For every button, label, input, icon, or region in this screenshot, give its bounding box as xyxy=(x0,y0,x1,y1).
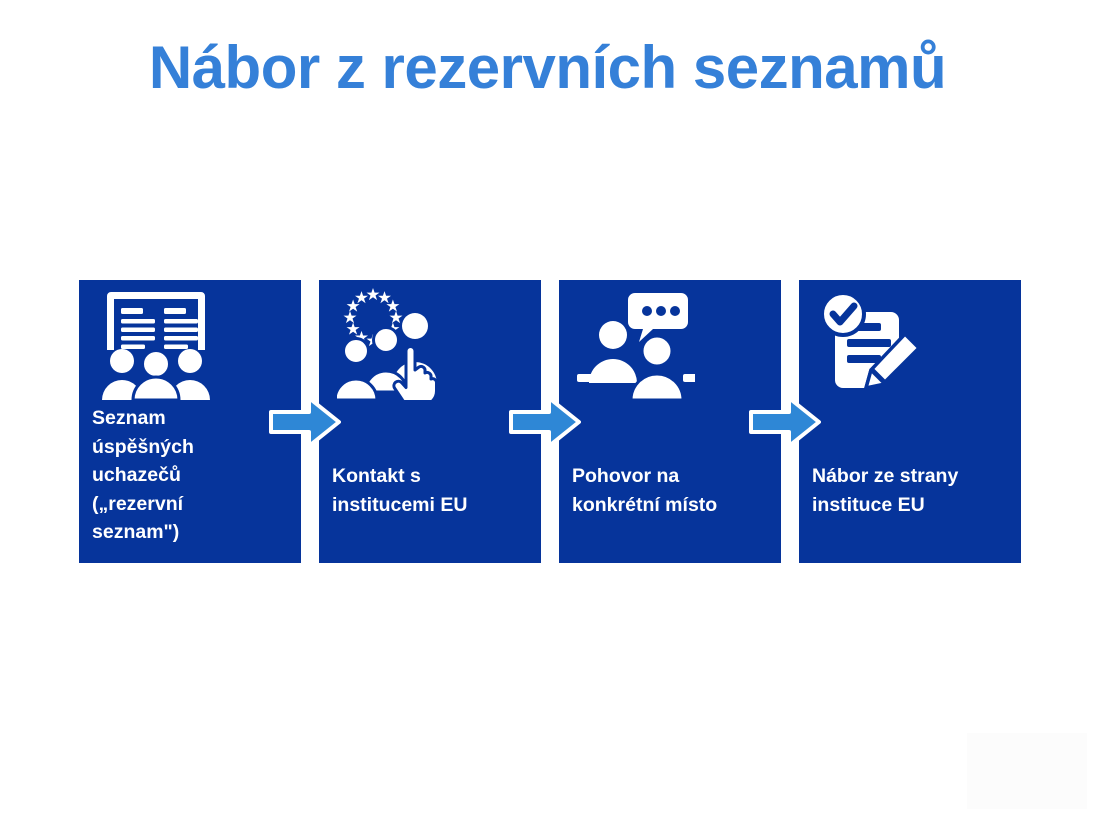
process-step-3-label: Pohovor na konkrétní místo xyxy=(572,462,773,519)
process-step-3[interactable]: Pohovor na konkrétní místo xyxy=(559,280,781,563)
corner-watermark-artifact xyxy=(967,733,1087,809)
process-step-1-label: Seznam úspěšných uchazečů („rezervní sez… xyxy=(92,404,293,547)
connector-arrow-3 xyxy=(749,396,821,448)
process-step-1[interactable]: Seznam úspěšných uchazečů („rezervní sez… xyxy=(79,280,301,563)
document-check-pencil-icon xyxy=(817,288,935,400)
arrow-right-icon xyxy=(509,396,581,448)
process-step-2-label: Kontakt s institucemi EU xyxy=(332,462,533,519)
process-step-4[interactable]: Nábor ze strany instituce EU xyxy=(799,280,1021,563)
arrow-right-icon xyxy=(749,396,821,448)
process-step-4-label: Nábor ze strany instituce EU xyxy=(812,462,1013,519)
process-flow-diagram: Seznam úspěšných uchazečů („rezervní sez… xyxy=(79,280,1021,563)
presentation-board-audience-icon xyxy=(97,288,215,400)
arrow-right-icon xyxy=(269,396,341,448)
page-title: Nábor z rezervních seznamů xyxy=(0,34,1095,102)
process-step-2[interactable]: Kontakt s institucemi EU xyxy=(319,280,541,563)
interview-speech-bubble-icon xyxy=(577,288,695,400)
eu-stars-people-pointer-icon xyxy=(337,288,455,400)
connector-arrow-2 xyxy=(509,396,581,448)
connector-arrow-1 xyxy=(269,396,341,448)
